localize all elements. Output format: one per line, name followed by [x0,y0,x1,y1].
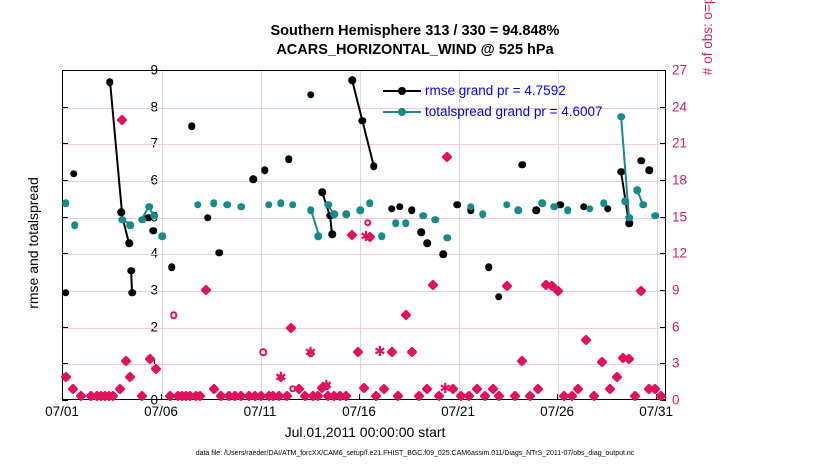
data-point-circle [289,201,297,209]
data-point-circle [210,199,218,207]
obs-assimilated-star-marker: ✱ [305,349,317,357]
data-point-circle [402,219,410,227]
y-tickmark-left [62,400,68,401]
data-point-circle [538,199,546,207]
data-point-circle [366,199,374,207]
plot-figure: Southern Hemisphere 313 / 330 = 94.848% … [0,0,830,470]
y-tick-right: 24 [672,99,687,114]
gridline-horizontal [63,144,665,145]
data-point-circle [388,205,396,213]
data-point-circle [550,203,558,211]
data-point-circle [285,155,293,163]
data-point-circle [358,117,366,125]
y-tick-right: 15 [672,209,687,224]
data-point-circle [71,221,79,229]
obs-assimilated-star-marker: ✱ [439,385,451,393]
legend-label-rmse: rmse grand pr = 4.7592 [425,80,566,101]
data-point-circle [622,197,630,205]
data-point-circle [249,175,257,183]
obs-assimilated-star-marker: ✱ [374,348,386,356]
data-point-circle [216,249,224,257]
data-point-circle [319,188,327,196]
obs-possible-marker [170,312,178,320]
data-point-circle [128,267,136,275]
legend-label-totalspread: totalspread grand pr = 4.6007 [425,101,603,122]
data-point-circle [325,201,333,209]
obs-assimilated-star-marker: ✱ [360,233,372,241]
data-point-circle [194,201,202,209]
gridline-horizontal [63,328,665,329]
obs-possible-marker [364,219,372,227]
data-point-circle [62,199,70,207]
data-point-circle [408,207,416,215]
x-tick: 07/21 [441,404,475,419]
gridline-vertical [657,71,658,399]
data-point-circle [145,203,153,211]
data-point-circle [265,201,273,209]
y-axis-right-label: # of obs: o=possible; x=assimilated [700,0,715,120]
data-point-circle [188,122,196,130]
y-axis-left-label: rmse and totalspread [25,113,41,373]
data-point-circle [331,210,339,218]
y-tick-right: 6 [672,319,680,334]
data-point-circle [503,201,511,209]
data-point-circle [443,234,451,242]
data-point-circle [639,201,647,209]
legend: rmse grand pr = 4.7592 totalspread grand… [383,80,603,122]
x-tick: 07/16 [342,404,376,419]
data-point-circle [150,212,158,220]
data-point-circle [453,201,461,209]
gridline-horizontal [63,254,665,255]
data-point-circle [119,216,127,224]
gridline-horizontal [63,291,665,292]
data-point-circle [645,166,653,174]
obs-possible-marker [259,348,267,356]
x-tick: 07/31 [639,404,673,419]
legend-swatch-totalspread [383,106,421,118]
y-tick-right: 0 [672,393,680,408]
data-point-circle [564,207,572,215]
data-point-circle [348,76,356,84]
data-point-circle [70,170,78,178]
data-point-circle [204,214,212,222]
data-point-circle [519,161,527,169]
y-tick-right: 9 [672,283,680,298]
data-point-circle [277,199,285,207]
legend-swatch-rmse [383,85,421,97]
data-point-circle [307,91,315,99]
data-point-circle [586,205,594,213]
data-point-circle [342,210,350,218]
data-point-circle [307,207,315,215]
data-point-circle [261,166,269,174]
data-point-circle [138,216,146,224]
data-point-circle [418,229,426,237]
x-tick: 07/11 [244,404,277,419]
data-point-circle [533,207,541,215]
y-tick-right: 27 [672,63,687,78]
data-point-circle [329,230,337,238]
data-point-circle [485,263,493,271]
data-point-circle [370,163,378,171]
data-point-circle [424,240,432,248]
legend-item-rmse[interactable]: rmse grand pr = 4.7592 [383,80,603,101]
data-point-circle [396,203,404,211]
y-tick-right: 18 [672,173,687,188]
data-point-circle [515,207,523,215]
data-point-circle [62,289,70,297]
data-point-circle [129,289,137,297]
data-point-circle [168,263,176,271]
data-point-circle [618,113,626,121]
data-file-footer: data file: /Users/raeder/DAI/ATM_forcXX/… [0,450,830,457]
data-point-circle [651,212,659,220]
data-point-circle [356,207,364,215]
data-point-circle [600,199,608,207]
data-point-circle [315,232,323,240]
data-point-circle [224,201,232,209]
y-tick-right: 12 [672,246,687,261]
obs-assimilated-star-marker: ✱ [321,382,333,390]
data-point-circle [634,186,642,194]
x-axis-label: Jul.01,2011 00:00:00 start [0,424,730,440]
data-point-circle [126,240,134,248]
data-point-circle [638,157,646,165]
data-point-circle [626,214,634,222]
legend-item-totalspread[interactable]: totalspread grand pr = 4.6007 [383,101,603,122]
data-point-circle [392,219,400,227]
data-point-circle [467,203,475,211]
gridline-horizontal [63,181,665,182]
data-point-circle [432,216,440,224]
y-tick-right: 21 [672,136,687,151]
data-point-circle [149,227,157,235]
x-tick: 07/26 [540,404,574,419]
data-point-circle [127,221,135,229]
data-point-circle [378,232,386,240]
data-point-circle [106,78,114,86]
data-point-circle [495,293,503,301]
data-point-circle [420,212,428,220]
x-tick: 07/01 [45,404,79,419]
data-point-circle [158,232,166,240]
y-tick-right: 3 [672,356,680,371]
obs-assimilated-star-marker: ✱ [275,374,287,382]
data-point-circle [479,210,487,218]
data-point-circle [237,203,245,211]
data-point-circle [439,251,447,259]
x-tick: 07/06 [144,404,178,419]
